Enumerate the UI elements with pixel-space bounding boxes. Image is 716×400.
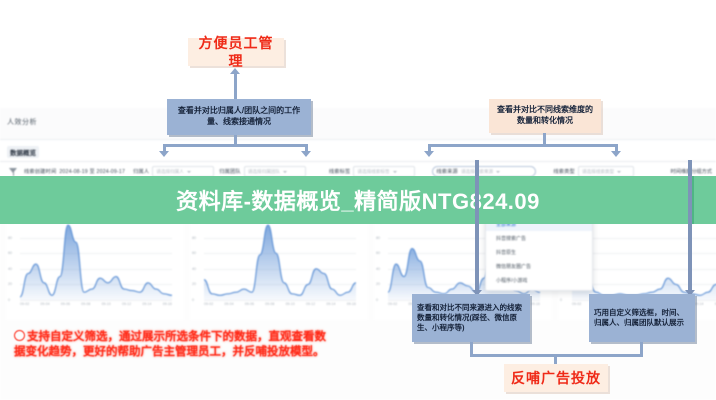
callout-bottom: 反哺广告投放: [504, 364, 608, 392]
arrow-down-icon: [424, 151, 434, 157]
annotation-body: 支持自定义筛选，通过展示所选条件下的数据，直观查看数据变化趋势，更好的帮助广告主…: [14, 331, 326, 358]
arrow-down-icon: [159, 151, 169, 157]
connector-vertical: [234, 73, 237, 99]
box-bottom-right-description: 巧用自定义筛选框，时间、归属人、归属团队默认展示: [589, 294, 695, 342]
callout-top: 方便员工管理: [188, 38, 284, 66]
connector-vertical: [554, 354, 557, 364]
screenshot-root: 人效分析 数据概览 线索创建时间 2024-08-19 至 2024-09-17…: [0, 0, 716, 400]
connector-vertical-long: [475, 160, 479, 295]
arrow-up-icon: [230, 68, 240, 74]
connector-vertical: [640, 342, 643, 354]
connector-vertical: [470, 342, 473, 354]
connector-vertical: [234, 135, 237, 144]
connector-horizontal: [163, 144, 308, 147]
annotation-text: 支持自定义筛选，通过展示所选条件下的数据，直观查看数据变化趋势，更好的帮助广告主…: [14, 330, 332, 359]
box-right-description: 查看并对比不同线索维度的数量和转化情况: [489, 99, 601, 133]
arrow-down-icon: [301, 151, 311, 157]
box-bottom-left-description: 查看和对比不同来源进入的线索数量和转化情况(踩径、微信原生、小程序等): [412, 294, 530, 342]
box-left-description: 查看并对比归属人/团队之间的工作量、线索接通情况: [167, 99, 311, 135]
circle-bullet-icon: [14, 330, 25, 341]
connector-horizontal: [428, 144, 618, 147]
connector-vertical: [543, 133, 546, 144]
arrow-down-icon: [611, 151, 621, 157]
connector-vertical-long: [688, 160, 692, 295]
